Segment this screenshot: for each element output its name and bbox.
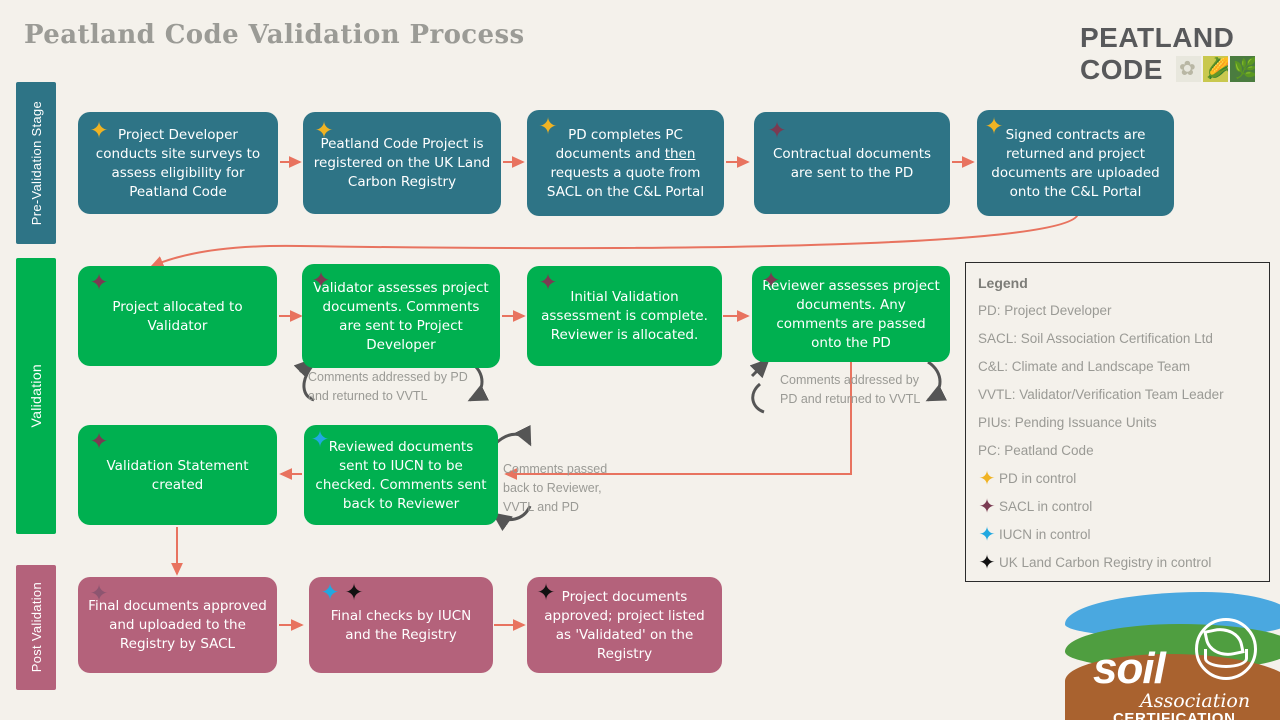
logo-swatch-bird-icon: 🌽 (1203, 56, 1228, 82)
stage-label-validation: Validation (28, 364, 44, 427)
legend-title: Legend (978, 275, 1259, 291)
flow-box-final-checks-iucn[interactable]: ✦ ✦ Final checks by IUCN and the Registr… (309, 577, 493, 673)
registry-star-icon: ✦ (978, 553, 996, 573)
flow-box-project-allocated[interactable]: ✦ Project allocated to Validator (78, 266, 277, 366)
flow-box-site-surveys[interactable]: ✦ Project Developer conducts site survey… (78, 112, 278, 214)
stage-bar-pre-validation: Pre-Validation Stage (16, 82, 56, 244)
flow-box-registered-registry[interactable]: ✦ Peatland Code Project is registered on… (303, 112, 501, 214)
iucn-star-icon: ✦ (319, 582, 341, 604)
legend-key-label: SACL in control (999, 493, 1092, 521)
flow-box-text-after: requests a quote from SACL on the C&L Po… (547, 165, 704, 200)
logo-swatch-grass-icon: ✿ (1176, 56, 1201, 82)
flow-box-text: Contractual documents are sent to the PD (764, 145, 940, 183)
legend-key-pd: ✦ PD in control (978, 465, 1259, 493)
flow-box-validation-statement[interactable]: ✦ Validation Statement created (78, 425, 277, 525)
stage-label-pre-validation: Pre-Validation Stage (29, 101, 44, 225)
legend-abbr-sacl: SACL: Soil Association Certification Ltd (978, 325, 1259, 353)
flow-box-reviewed-documents-iucn[interactable]: ✦ Reviewed documents sent to IUCN to be … (304, 425, 498, 525)
peatland-code-logo: PEATLAND CODE ✿ 🌽 🌿 (1080, 24, 1258, 84)
legend-abbr-cl: C&L: Climate and Landscape Team (978, 353, 1259, 381)
flow-box-text: Reviewed documents sent to IUCN to be ch… (314, 438, 488, 514)
flow-box-text: Final documents approved and uploaded to… (88, 597, 267, 654)
flow-box-text: Project allocated to Validator (88, 298, 267, 336)
caption-validator-loop: Comments addressed by PD and returned to… (308, 368, 480, 406)
legend-abbr-text: PC: Peatland Code (978, 437, 1094, 465)
leaf-circle-icon (1195, 618, 1257, 680)
legend-abbr-pc: PC: Peatland Code (978, 437, 1259, 465)
legend-key-iucn: ✦ IUCN in control (978, 521, 1259, 549)
logo-word-certification: CERTIFICATION (1113, 710, 1236, 720)
flow-box-text: Initial Validation assessment is complet… (537, 288, 712, 345)
legend-abbr-text: PD: Project Developer (978, 297, 1112, 325)
legend-key-registry: ✦ UK Land Carbon Registry in control (978, 549, 1259, 577)
legend-key-label: UK Land Carbon Registry in control (999, 549, 1211, 577)
sacl-star-icon: ✦ (766, 120, 788, 142)
flow-box-text: Reviewer assesses project documents. Any… (762, 277, 940, 353)
legend-key-sacl: ✦ SACL in control (978, 493, 1259, 521)
legend-abbr-pius: PIUs: Pending Issuance Units (978, 409, 1259, 437)
logo-swatches: ✿ 🌽 🌿 (1176, 56, 1257, 82)
logo-swatch-plant-icon: 🌿 (1230, 56, 1255, 82)
flow-box-text: Final checks by IUCN and the Registry (319, 607, 483, 645)
logo-word-soil: soil (1093, 644, 1165, 694)
caption-reviewer-loop: Comments addressed by PD and returned to… (780, 371, 936, 409)
stage-bar-validation: Validation (16, 258, 56, 534)
sacl-star-icon: ✦ (88, 431, 110, 453)
iucn-star-icon: ✦ (978, 525, 996, 545)
flow-box-text: Validator assesses project documents. Co… (312, 279, 490, 355)
flow-box-text-emphasis: then (665, 146, 696, 162)
stage-label-post-validation: Post Validation (29, 582, 44, 672)
legend-abbr-text: C&L: Climate and Landscape Team (978, 353, 1190, 381)
flow-box-text: Project documents approved; project list… (537, 588, 712, 664)
legend-abbr-vvtl: VVTL: Validator/Verification Team Leader (978, 381, 1259, 409)
soil-association-logo: soil Association CERTIFICATION (1065, 588, 1280, 720)
legend-abbr-text: SACL: Soil Association Certification Ltd (978, 325, 1213, 353)
legend-abbr-pd: PD: Project Developer (978, 297, 1259, 325)
flow-box-project-validated[interactable]: ✦ Project documents approved; project li… (527, 577, 722, 673)
flow-box-pc-documents-quote[interactable]: ✦ PD completes PC documents and then req… (527, 110, 724, 216)
flow-box-contractual-documents[interactable]: ✦ Contractual documents are sent to the … (754, 112, 950, 214)
flow-box-final-documents-uploaded[interactable]: ✦ Final documents approved and uploaded … (78, 577, 277, 673)
flow-box-text: Validation Statement created (88, 457, 267, 495)
logo-word-association: Association (1140, 690, 1250, 712)
flow-box-text: PD completes PC documents and then reque… (537, 126, 714, 202)
flow-box-signed-contracts[interactable]: ✦ Signed contracts are returned and proj… (977, 110, 1174, 216)
legend-key-label: PD in control (999, 465, 1076, 493)
flow-box-text: Project Developer conducts site surveys … (88, 126, 268, 202)
legend-abbr-text: VVTL: Validator/Verification Team Leader (978, 381, 1224, 409)
legend-panel: Legend PD: Project Developer SACL: Soil … (965, 262, 1270, 582)
legend-key-label: IUCN in control (999, 521, 1091, 549)
pd-star-icon: ✦ (978, 469, 996, 489)
flow-box-reviewer-assesses[interactable]: ✦ Reviewer assesses project documents. A… (752, 266, 950, 362)
flow-box-validator-assesses[interactable]: ✦ Validator assesses project documents. … (302, 264, 500, 368)
flow-box-text: Signed contracts are returned and projec… (987, 126, 1164, 202)
sacl-star-icon: ✦ (978, 497, 996, 517)
flow-box-initial-assessment[interactable]: ✦ Initial Validation assessment is compl… (527, 266, 722, 366)
registry-star-icon: ✦ (343, 582, 365, 604)
legend-abbr-text: PIUs: Pending Issuance Units (978, 409, 1157, 437)
flow-box-text: Peatland Code Project is registered on t… (313, 135, 491, 192)
diagram-canvas: Peatland Code Validation Process PEATLAN… (0, 0, 1280, 720)
sacl-star-icon: ✦ (88, 272, 110, 294)
logo-line-1: PEATLAND (1080, 24, 1258, 52)
stage-bar-post-validation: Post Validation (16, 565, 56, 690)
caption-iucn-loop: Comments passed back to Reviewer, VVTL a… (503, 460, 623, 517)
page-title: Peatland Code Validation Process (24, 20, 525, 50)
